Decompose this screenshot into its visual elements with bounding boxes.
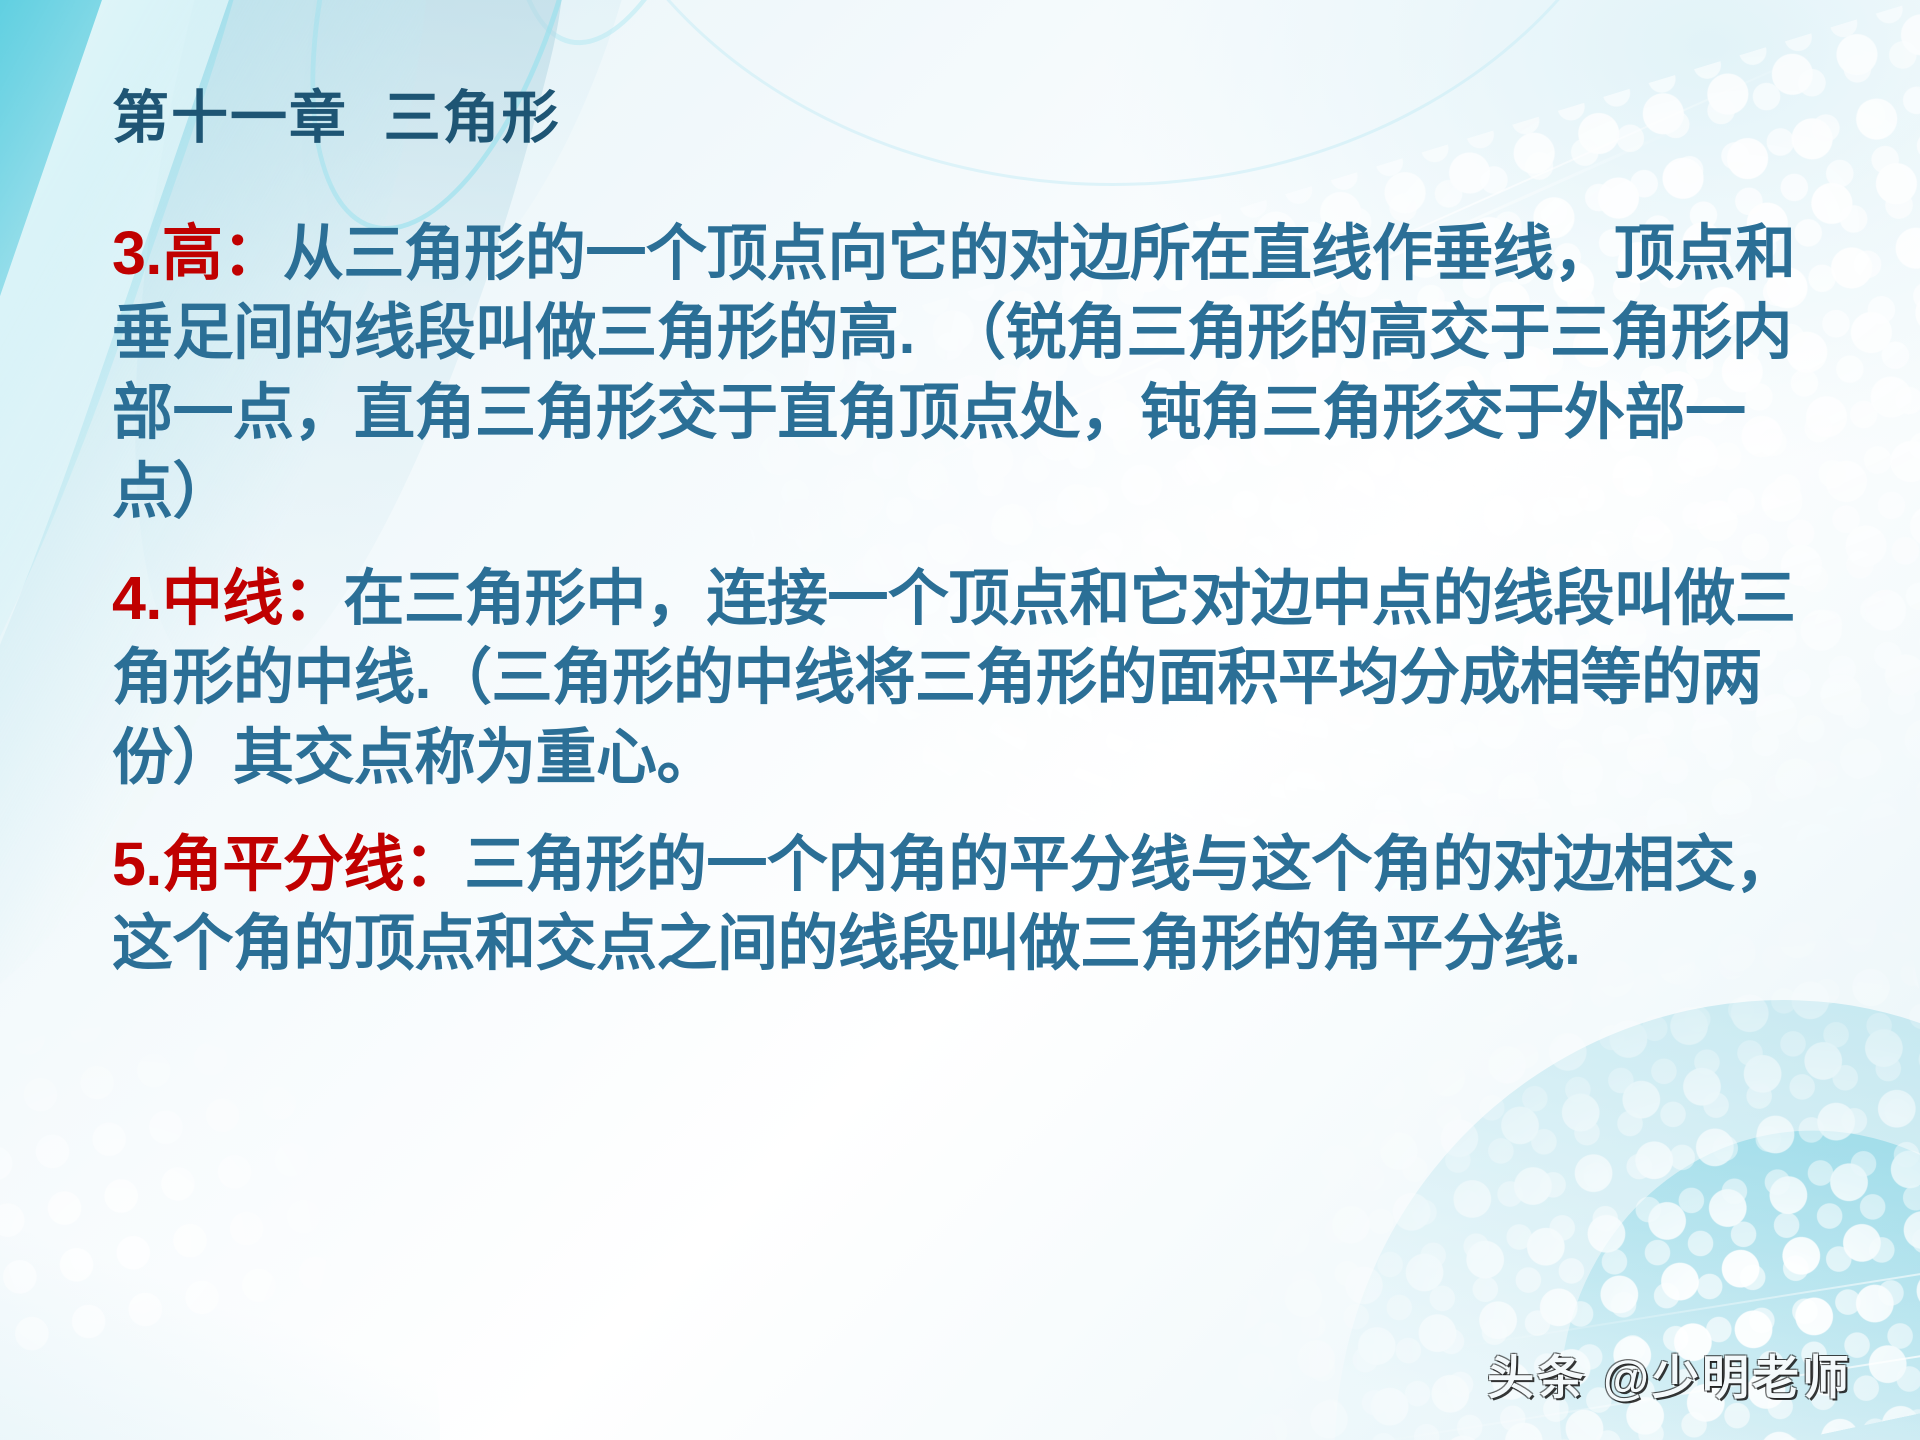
slide-content: 第十一章 三角形 3.高：从三角形的一个顶点向它的对边所在直线作垂线，顶点和垂足…: [0, 0, 1920, 1440]
definition-paragraph-height: 3.高：从三角形的一个顶点向它的对边所在直线作垂线，顶点和垂足间的线段叫做三角形…: [112, 214, 1812, 531]
definition-label-angle-bisector: 5.角平分线：: [112, 830, 464, 898]
slide-body: 3.高：从三角形的一个顶点向它的对边所在直线作垂线，顶点和垂足间的线段叫做三角形…: [112, 214, 1812, 984]
definition-label-median: 4.中线：: [112, 564, 343, 632]
definition-paragraph-median: 4.中线：在三角形中，连接一个顶点和它对边中点的线段叫做三角形的中线.（三角形的…: [112, 559, 1812, 797]
definition-text-height: 从三角形的一个顶点向它的对边所在直线作垂线，顶点和垂足间的线段叫做三角形的高. …: [112, 219, 1795, 525]
definition-paragraph-angle-bisector: 5.角平分线：三角形的一个内角的平分线与这个角的对边相交，这个角的顶点和交点之间…: [112, 825, 1812, 984]
definition-label-height: 3.高：: [112, 219, 283, 287]
presentation-slide: 第十一章 三角形 3.高：从三角形的一个顶点向它的对边所在直线作垂线，顶点和垂足…: [0, 0, 1920, 1440]
definition-text-median: 在三角形中，连接一个顶点和它对边中点的线段叫做三角形的中线.（三角形的中线将三角…: [112, 564, 1795, 791]
watermark-author: 头条 @少明老师: [1487, 1339, 1852, 1408]
slide-title: 第十一章 三角形: [112, 72, 561, 154]
